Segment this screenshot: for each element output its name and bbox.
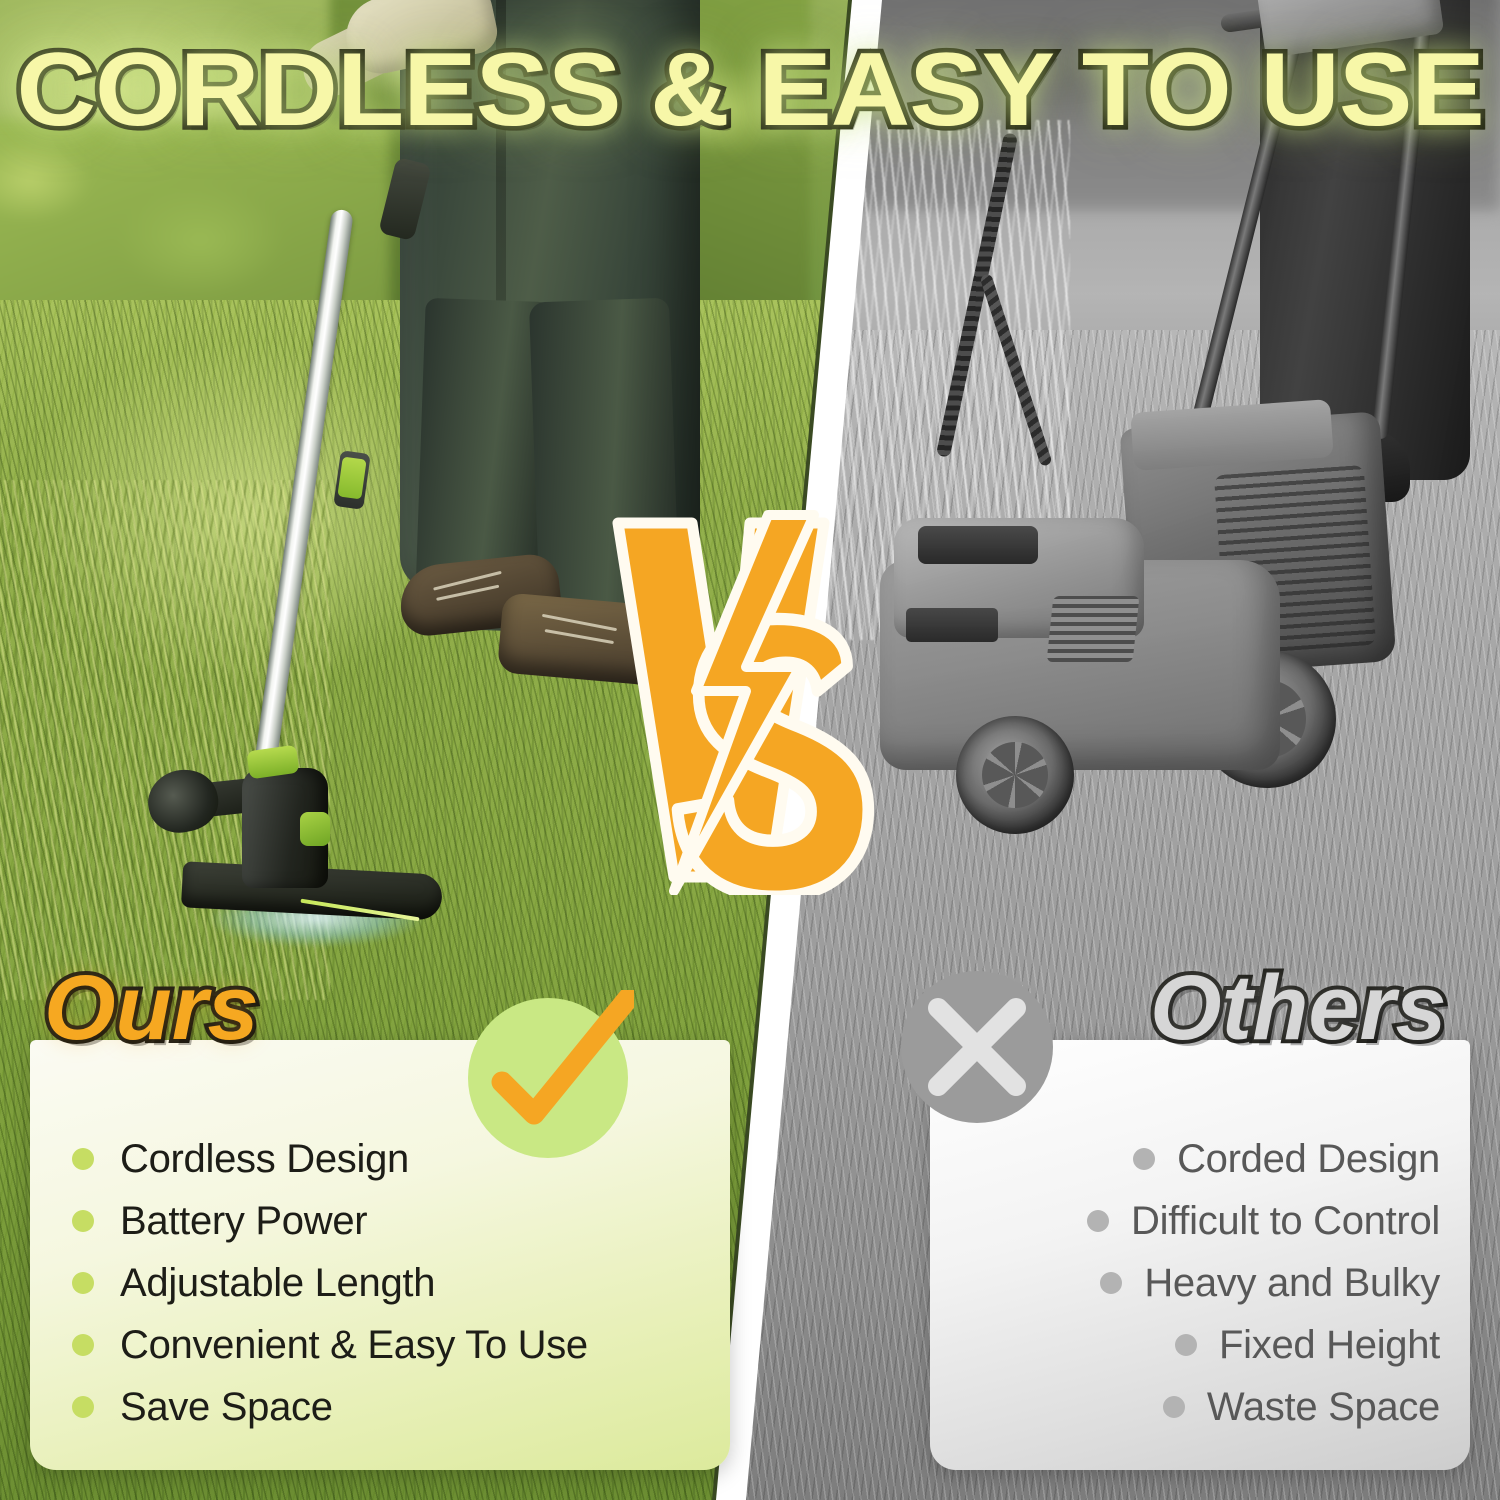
bullet-icon bbox=[72, 1148, 94, 1170]
list-item: Convenient & Easy To Use bbox=[72, 1314, 672, 1376]
bullet-icon bbox=[1163, 1396, 1185, 1418]
feature-label: Convenient & Easy To Use bbox=[120, 1325, 588, 1365]
feature-label: Save Space bbox=[120, 1387, 333, 1427]
list-item: Adjustable Length bbox=[72, 1252, 672, 1314]
feature-label: Battery Power bbox=[120, 1201, 367, 1241]
bullet-icon bbox=[1087, 1210, 1109, 1232]
bullet-icon bbox=[72, 1334, 94, 1356]
list-item: Battery Power bbox=[72, 1190, 672, 1252]
versus-badge bbox=[600, 505, 890, 895]
list-item: Heavy and Bulky bbox=[960, 1252, 1440, 1314]
bullet-icon bbox=[1133, 1148, 1155, 1170]
bullet-icon bbox=[72, 1210, 94, 1232]
check-badge bbox=[462, 990, 634, 1162]
lawn-mower bbox=[860, 400, 1420, 920]
list-item: Fixed Height bbox=[960, 1314, 1440, 1376]
trimmer-head-assembly bbox=[150, 760, 480, 940]
bullet-icon bbox=[72, 1272, 94, 1294]
ours-feature-list: Cordless Design Battery Power Adjustable… bbox=[72, 1128, 672, 1438]
close-icon bbox=[898, 968, 1056, 1126]
feature-label: Heavy and Bulky bbox=[1144, 1263, 1440, 1303]
list-item: Waste Space bbox=[960, 1376, 1440, 1438]
check-icon bbox=[462, 990, 634, 1162]
feature-label: Fixed Height bbox=[1219, 1325, 1440, 1365]
bullet-icon bbox=[72, 1396, 94, 1418]
vs-graphic bbox=[600, 505, 890, 895]
feature-label: Cordless Design bbox=[120, 1139, 409, 1179]
x-badge bbox=[898, 968, 1056, 1126]
others-label: Others bbox=[1150, 962, 1447, 1054]
comparison-infographic: CORDLESS & EASY TO USE Ours Cordless Des… bbox=[0, 0, 1500, 1500]
list-item: Save Space bbox=[72, 1376, 672, 1438]
mower-front-badge bbox=[906, 608, 998, 642]
trimmer-green-accent bbox=[300, 812, 330, 846]
mower-vent bbox=[1047, 596, 1140, 662]
list-item: Difficult to Control bbox=[960, 1190, 1440, 1252]
feature-label: Adjustable Length bbox=[120, 1263, 435, 1303]
others-feature-list: Corded Design Difficult to Control Heavy… bbox=[960, 1128, 1440, 1438]
trimmer-edge-wheel bbox=[142, 763, 223, 838]
mower-hood-slot bbox=[918, 526, 1038, 564]
bullet-icon bbox=[1175, 1334, 1197, 1356]
feature-label: Corded Design bbox=[1177, 1139, 1440, 1179]
feature-label: Difficult to Control bbox=[1131, 1201, 1440, 1241]
list-item: Corded Design bbox=[960, 1128, 1440, 1190]
mower-front-wheel bbox=[956, 716, 1074, 834]
ours-label: Ours bbox=[44, 962, 259, 1054]
feature-label: Waste Space bbox=[1207, 1387, 1440, 1427]
bullet-icon bbox=[1100, 1272, 1122, 1294]
